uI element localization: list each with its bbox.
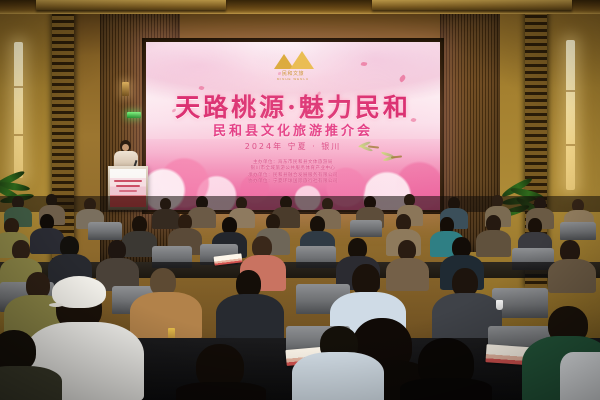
right-lattice-column [525,8,547,288]
left-lattice-column [52,10,74,300]
right-wood-panel [440,12,500,252]
ceiling-soffit-right [372,0,572,10]
logo-chinese-text: 民和文旅 [262,70,324,77]
exit-sign-icon [127,112,141,118]
logo-pinyin-text: MINHE WENLU [262,77,324,81]
ceiling-soffit-left [36,0,226,10]
speaker-face [122,144,129,151]
screen-organizers-block: 主办单位：海东市民和县文体旅游局 银川市全域旅游公共服务体育产业中心 承办单位：… [146,160,440,186]
lectern-banner [110,169,146,207]
event-logo: 民和文旅 MINHE WENLU [262,51,324,81]
conference-hall-photo: 民和文旅 MINHE WENLU 天路桃源·魅力民和 民和县文化旅游推介会 20… [0,0,600,400]
screen-date-location: 2024年 宁夏 · 银川 [146,141,440,152]
screen-sub-title: 民和县文化旅游推介会 [146,120,440,139]
screen-main-title: 天路桃源·魅力民和 [146,88,440,124]
mountain-logo-icon [270,51,316,69]
screen-surface: 民和文旅 MINHE WENLU 天路桃源·魅力民和 民和县文化旅游推介会 20… [146,42,440,210]
led-stage-screen: 民和文旅 MINHE WENLU 天路桃源·魅力民和 民和县文化旅游推介会 20… [142,38,444,214]
right-light-strip [566,40,575,190]
stage-podium-area [104,140,150,214]
left-light-strip [14,42,23,178]
organizer-line: 协办单位：宁夏环球国际旅行社有限公司 [146,179,440,185]
wall-sconce-icon [122,82,129,96]
